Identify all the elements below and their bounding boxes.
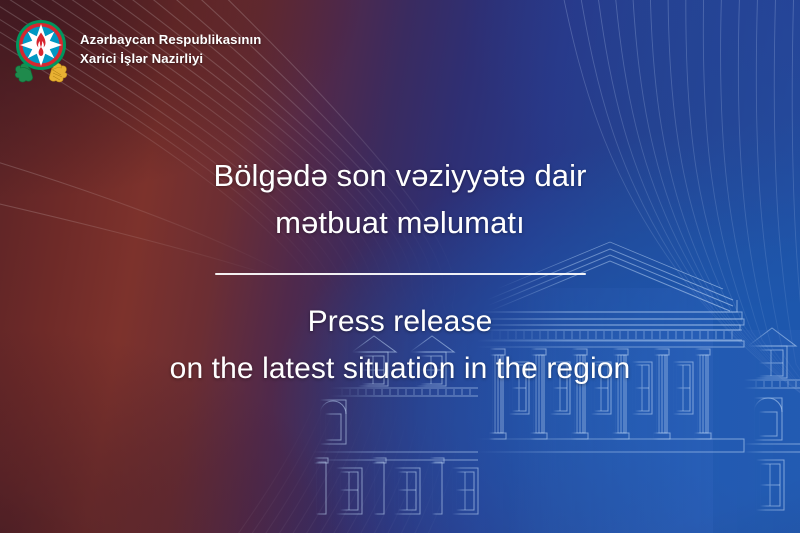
press-release-banner: Azərbaycan Respublikasının Xarici İşlər … <box>0 0 800 533</box>
title-english: Press release on the latest situation in… <box>0 298 800 393</box>
headline-block: Bölgədə son vəziyyətə dair mətbuat məlum… <box>0 152 800 393</box>
ministry-name-line1: Azərbaycan Respublikasının <box>80 30 261 49</box>
ministry-name: Azərbaycan Respublikasının Xarici İşlər … <box>80 30 261 68</box>
title-azerbaijani-line1: Bölgədə son vəziyyətə dair <box>60 152 740 199</box>
title-english-line1: Press release <box>40 298 760 345</box>
title-azerbaijani: Bölgədə son vəziyyətə dair mətbuat məlum… <box>0 152 800 247</box>
divider-rule <box>215 273 586 275</box>
azerbaijan-state-emblem-icon <box>13 14 69 84</box>
title-english-line2: on the latest situation in the region <box>40 345 760 392</box>
title-azerbaijani-line2: mətbuat məlumatı <box>60 199 740 246</box>
ministry-logo: Azərbaycan Respublikasının Xarici İşlər … <box>13 14 261 84</box>
ministry-name-line2: Xarici İşlər Nazirliyi <box>80 49 261 68</box>
